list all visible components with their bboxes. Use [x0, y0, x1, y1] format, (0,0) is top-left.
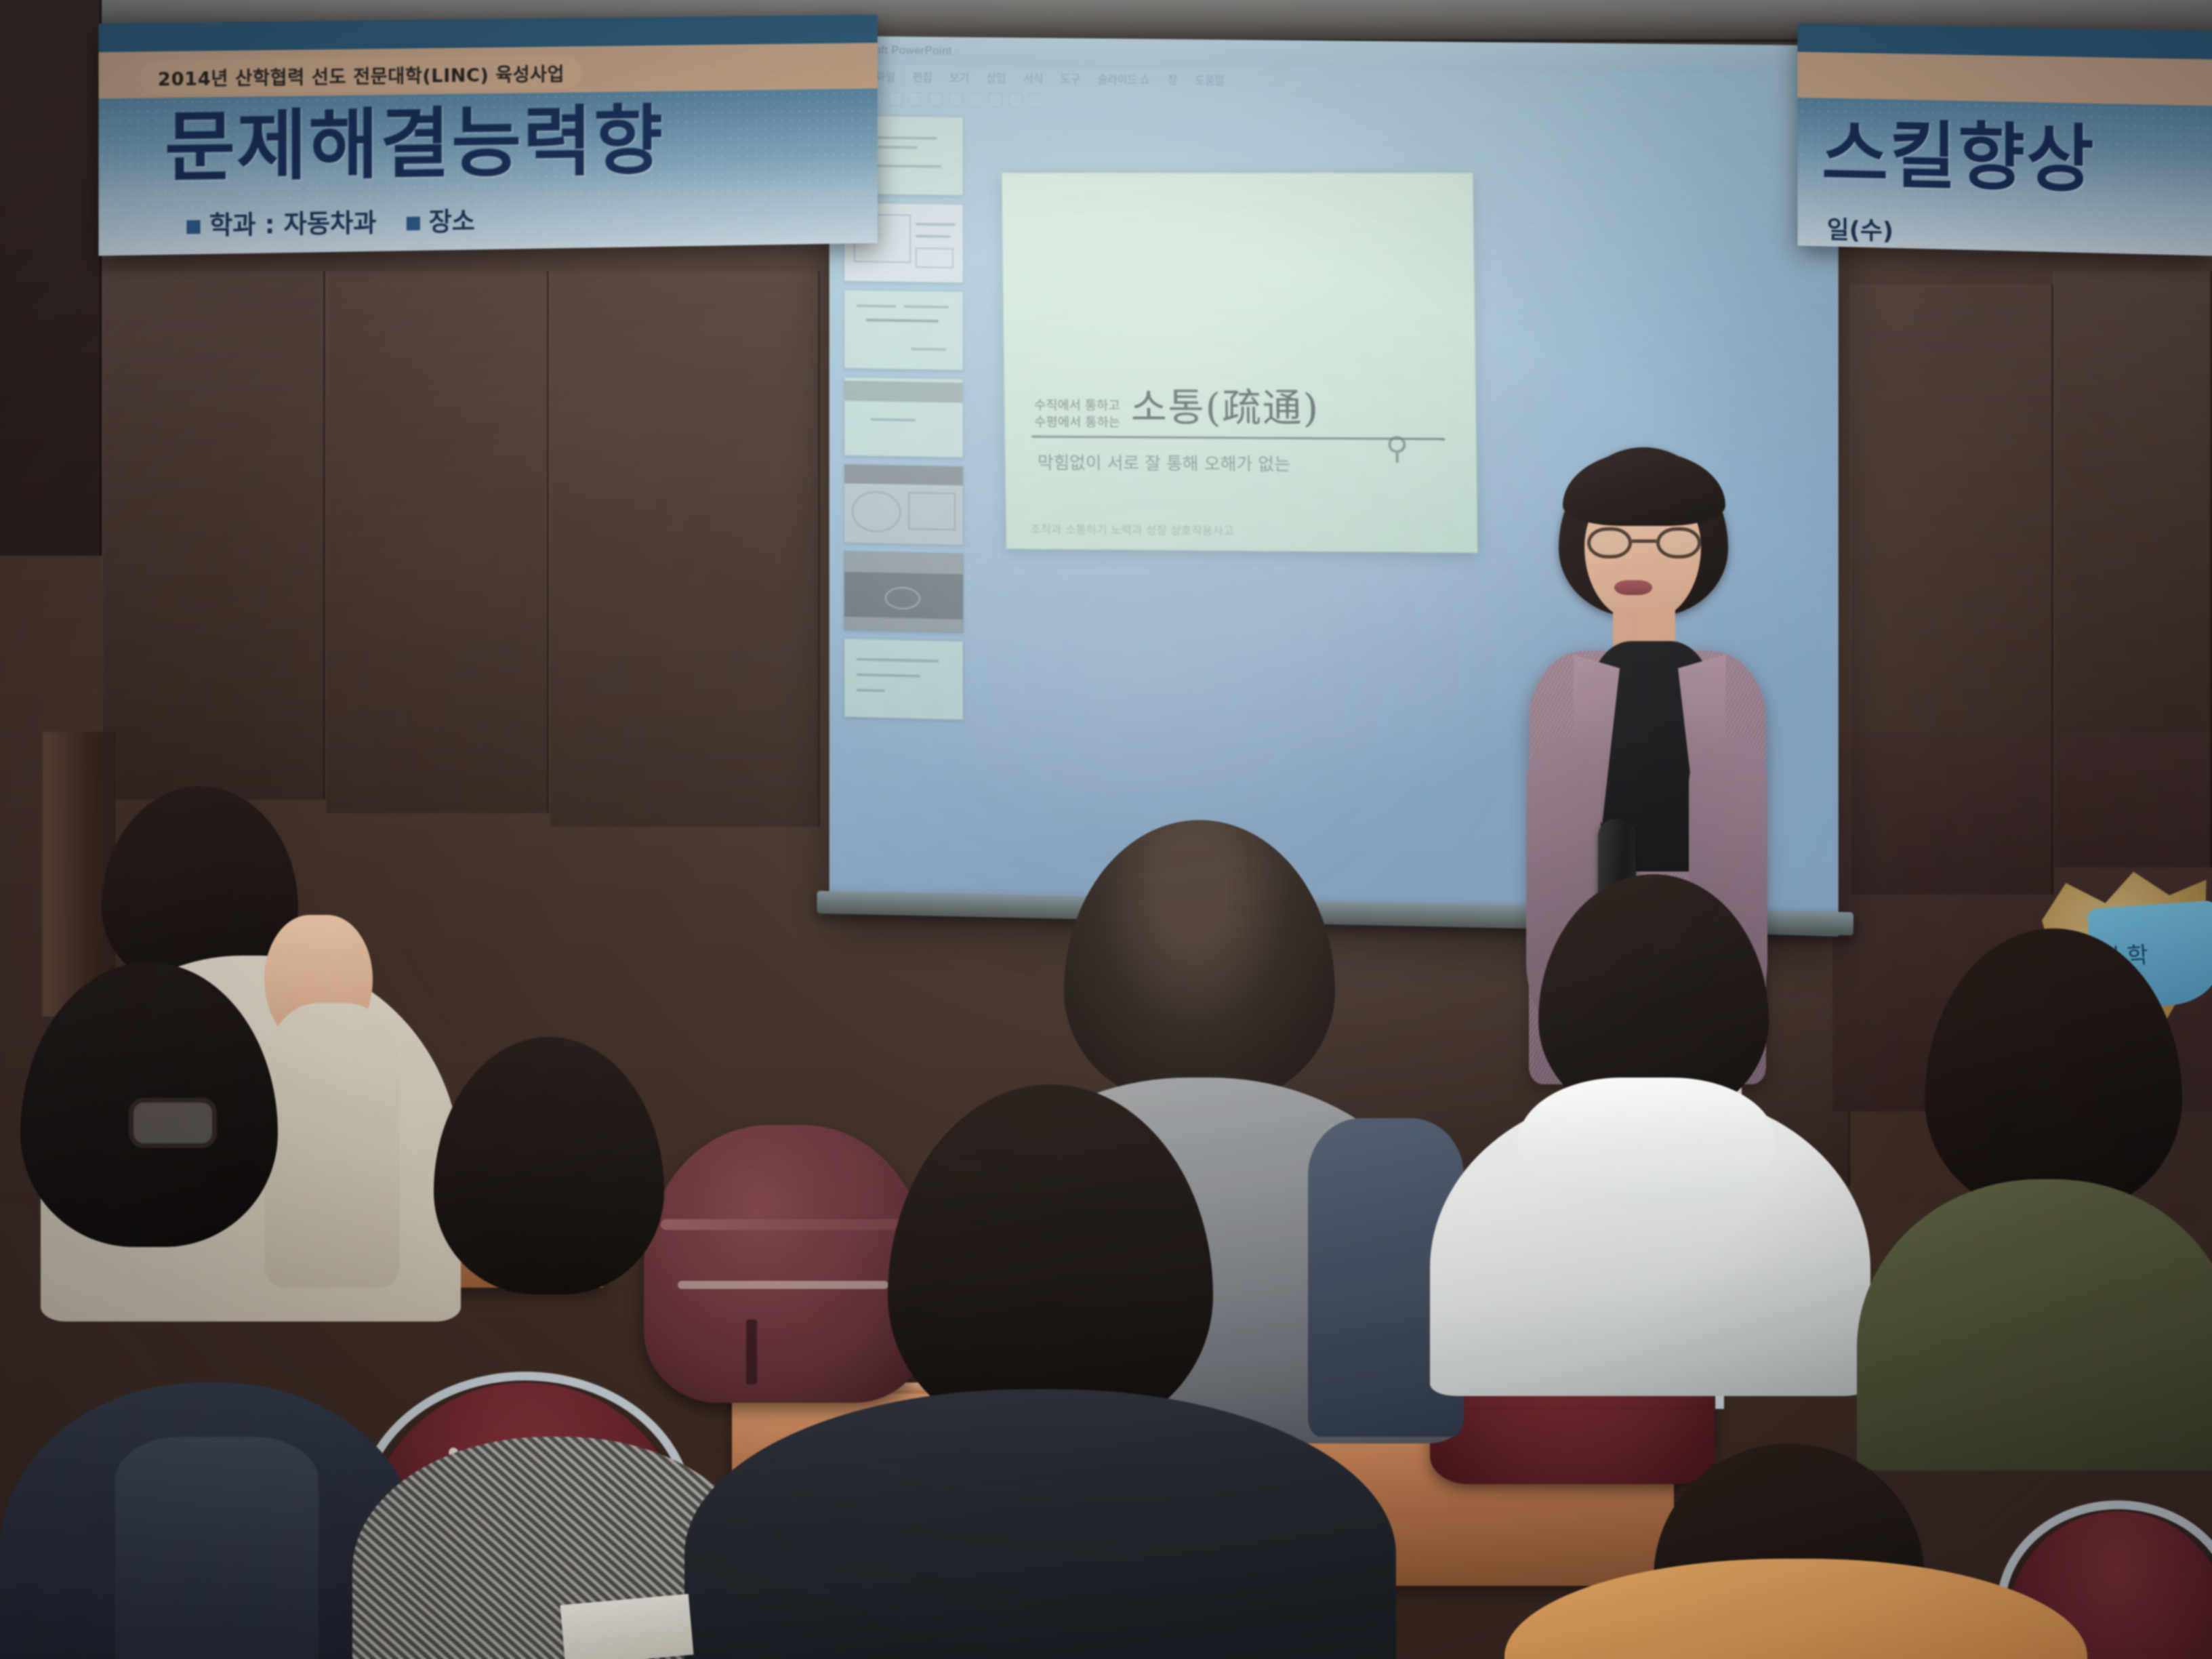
slide-subline: 막힘없이 서로 잘 통해 오해가 없는 [1038, 449, 1443, 477]
square-bullet-icon [186, 220, 200, 234]
menu-item-edit[interactable]: 편집 [913, 68, 933, 85]
slide-thumbnail[interactable] [844, 464, 964, 545]
open-icon[interactable] [889, 92, 903, 106]
glasses-icon [1587, 527, 1701, 558]
bold-icon[interactable] [989, 94, 1002, 107]
active-slide[interactable]: 수직에서 통하고 수평에서 통하는 소통(疏通) 막힘없이 서로 잘 통해 오해… [1001, 172, 1478, 553]
undo-icon[interactable] [949, 93, 962, 106]
slide-kicker: 수직에서 통하고 수평에서 통하는 [1034, 397, 1121, 432]
wall-panel [2053, 271, 2212, 867]
banner-meta-row: 학과 : 자동차과 장소 [186, 201, 475, 242]
attendee-olive-jacket-right [1857, 928, 2212, 1471]
banner-meta-dept: 학과 : 자동차과 [186, 203, 376, 243]
slide-divider [1032, 436, 1445, 441]
presenter-hair-fringe [1563, 451, 1725, 526]
menu-item-format[interactable]: 서식 [1023, 69, 1043, 85]
attendee-center-front-dark [684, 1084, 1396, 1659]
event-banner-right: 스킬향상 일(수) [1797, 24, 2212, 256]
person-glyph-icon: ⚲ [1385, 430, 1408, 466]
wall-left-shadow [0, 0, 102, 556]
banner-date-right: 일(수) [1827, 210, 1893, 247]
slide-thumbnail[interactable] [844, 289, 964, 371]
attendee-orange-jacket-bottom [1504, 1443, 2087, 1659]
banner-title-right: 스킬향상 [1822, 119, 2095, 198]
wall-panel [549, 271, 820, 827]
menu-item-view[interactable]: 보기 [949, 68, 969, 85]
menu-item-help[interactable]: 도움말 [1195, 71, 1225, 87]
save-icon[interactable] [909, 92, 922, 106]
menu-item-file[interactable]: 파일 [876, 68, 895, 84]
slide-heading: 수직에서 통하고 수평에서 통하는 소통(疏通) [1033, 375, 1439, 434]
italic-icon[interactable] [1009, 94, 1023, 107]
menu-item-window[interactable]: 창 [1168, 71, 1178, 87]
menu-item-insert[interactable]: 삽입 [987, 69, 1006, 85]
square-bullet-icon [407, 217, 420, 230]
slide-thumbnail[interactable] [844, 377, 964, 458]
presenter-mouth [1614, 580, 1652, 595]
slide-thumbnail[interactable] [844, 551, 964, 633]
photo-scene: Microsoft PowerPoint 파일 편집 보기 삽입 서식 도구 슬… [0, 0, 2212, 1659]
banner-meta-place: 장소 [407, 201, 475, 239]
zoom-icon[interactable] [1029, 94, 1042, 107]
banner-title: 문제해결능력향 [165, 104, 664, 187]
handout-paper [560, 1594, 693, 1659]
attendee-white-hoodie [1430, 874, 1877, 1396]
menu-item-slideshow[interactable]: 슬라이드 쇼 [1098, 70, 1150, 87]
wall-panel [325, 271, 549, 813]
event-banner-left: 2014년 산학협력 선도 전문대학(LINC) 육성사업 문제해결능력향 학과… [99, 14, 878, 255]
slide-footnote: 조직과 소통하기 노력과 성장 상호작용사고 [1030, 520, 1454, 540]
print-icon[interactable] [929, 93, 943, 106]
banner-program-pill: 2014년 산학협력 선도 전문대학(LINC) 육성사업 [140, 55, 581, 94]
menu-item-tools[interactable]: 도구 [1061, 70, 1080, 86]
slide-thumbnail[interactable] [844, 638, 964, 720]
slide-headline: 소통(疏通) [1130, 375, 1320, 433]
wall-panel [102, 271, 325, 800]
redo-icon[interactable] [969, 93, 983, 106]
wall-panel [1850, 285, 2053, 895]
